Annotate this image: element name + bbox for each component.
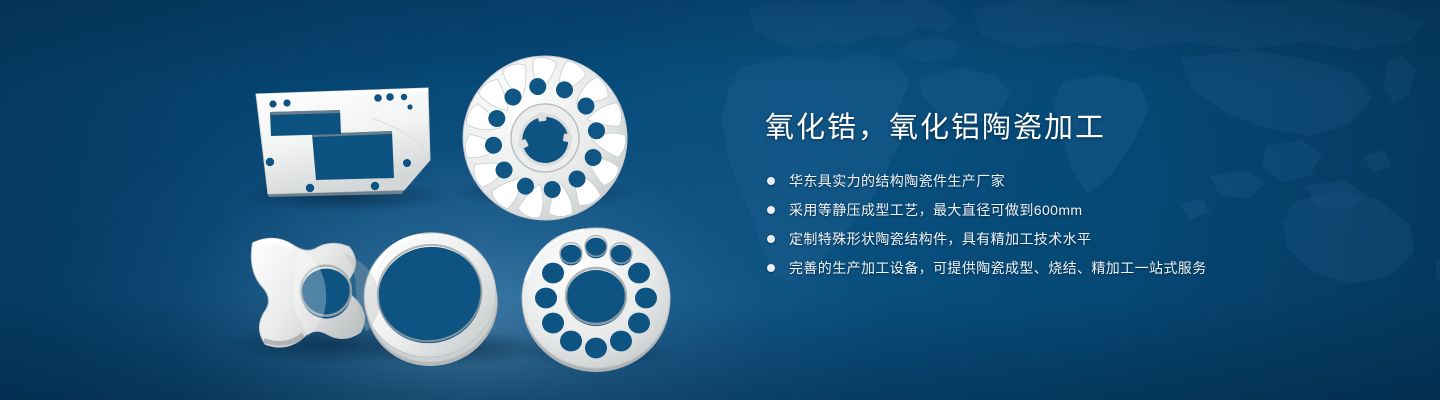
- ceramic-products-photo: [0, 0, 720, 400]
- list-item-label: 定制特殊形状陶瓷结构件，具有精加工技术水平: [789, 231, 1091, 247]
- list-item-label: 完善的生产加工设备，可提供陶瓷成型、烧结、精加工一站式服务: [789, 260, 1207, 276]
- hero-banner: 氧化锆，氧化铝陶瓷加工 华东具实力的结构陶瓷件生产厂家 采用等静压成型工艺，最大…: [0, 0, 1440, 400]
- page-title: 氧化锆，氧化铝陶瓷加工: [765, 108, 1385, 148]
- feature-list: 华东具实力的结构陶瓷件生产厂家 采用等静压成型工艺，最大直径可做到600mm 定…: [765, 170, 1385, 279]
- list-item: 定制特殊形状陶瓷结构件，具有精加工技术水平: [765, 228, 1385, 250]
- list-item: 采用等静压成型工艺，最大直径可做到600mm: [765, 199, 1385, 221]
- list-item: 华东具实力的结构陶瓷件生产厂家: [765, 170, 1385, 192]
- ceramic-plate-with-cutouts: [256, 88, 430, 197]
- ceramic-perforated-disc: [522, 228, 670, 372]
- bullet-dot-icon: [767, 177, 775, 185]
- bullet-dot-icon: [767, 206, 775, 214]
- list-item-label: 采用等静压成型工艺，最大直径可做到600mm: [789, 202, 1082, 218]
- bullet-dot-icon: [767, 264, 775, 272]
- bullet-dot-icon: [767, 235, 775, 243]
- list-item: 完善的生产加工设备，可提供陶瓷成型、烧结、精加工一站式服务: [765, 257, 1385, 279]
- banner-copy: 氧化锆，氧化铝陶瓷加工 华东具实力的结构陶瓷件生产厂家 采用等静压成型工艺，最大…: [765, 108, 1385, 279]
- list-item-label: 华东具实力的结构陶瓷件生产厂家: [789, 173, 1005, 189]
